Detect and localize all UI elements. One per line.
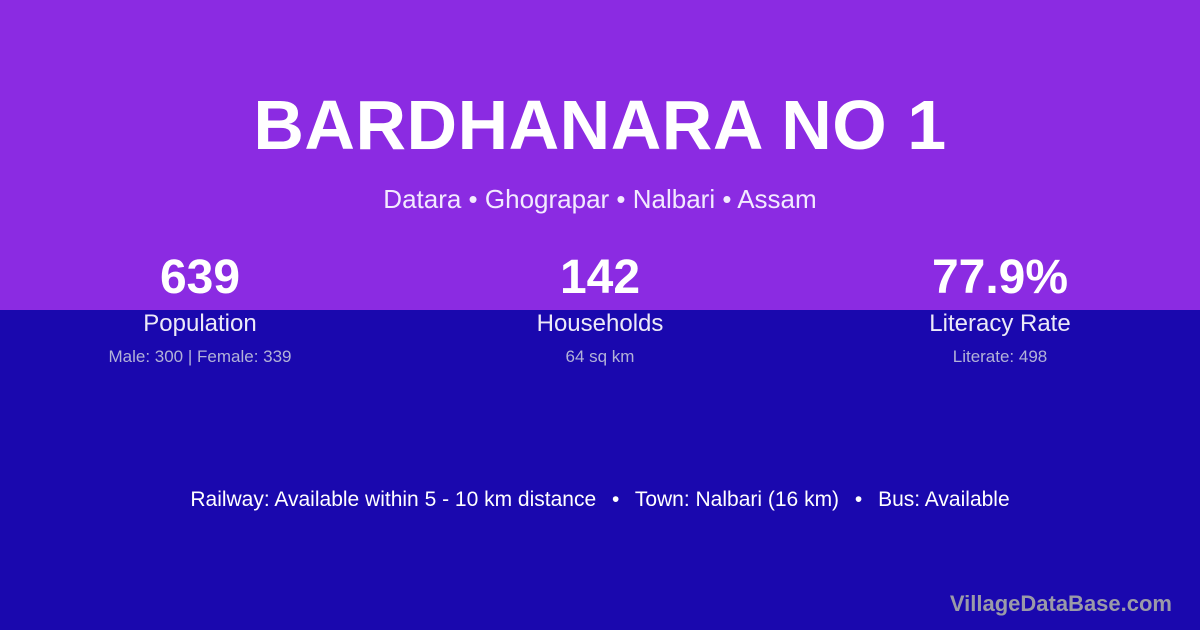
- stat-sublabel: 64 sq km: [400, 347, 800, 367]
- stat-value: 142: [400, 250, 800, 306]
- stat-label: Population: [0, 310, 400, 338]
- page-title: BARDHANARA NO 1: [0, 82, 1200, 168]
- village-info-card: BARDHANARA NO 1 Datara • Ghograpar • Nal…: [0, 0, 1200, 630]
- bullet-separator-icon: •: [602, 486, 629, 514]
- stat-label: Households: [400, 310, 800, 338]
- location-breadcrumb: Datara • Ghograpar • Nalbari • Assam: [0, 183, 1200, 215]
- stat-households: 142 Households 64 sq km: [400, 250, 800, 367]
- bullet-separator-icon: •: [845, 486, 872, 514]
- stat-population: 639 Population Male: 300 | Female: 339: [0, 250, 400, 367]
- facility-railway: Railway: Available within 5 - 10 km dist…: [190, 488, 596, 511]
- site-brand: VillageDataBase.com: [950, 590, 1172, 618]
- stat-label: Literacy Rate: [800, 310, 1200, 338]
- stat-value: 77.9%: [800, 250, 1200, 306]
- facility-bus: Bus: Available: [878, 488, 1010, 511]
- stat-literacy-rate: 77.9% Literacy Rate Literate: 498: [800, 250, 1200, 367]
- stats-row: 639 Population Male: 300 | Female: 339 1…: [0, 250, 1200, 367]
- stat-sublabel: Literate: 498: [800, 347, 1200, 367]
- facilities-line: Railway: Available within 5 - 10 km dist…: [0, 486, 1200, 514]
- stat-value: 639: [0, 250, 400, 306]
- stat-sublabel: Male: 300 | Female: 339: [0, 347, 400, 367]
- facility-town: Town: Nalbari (16 km): [635, 488, 839, 511]
